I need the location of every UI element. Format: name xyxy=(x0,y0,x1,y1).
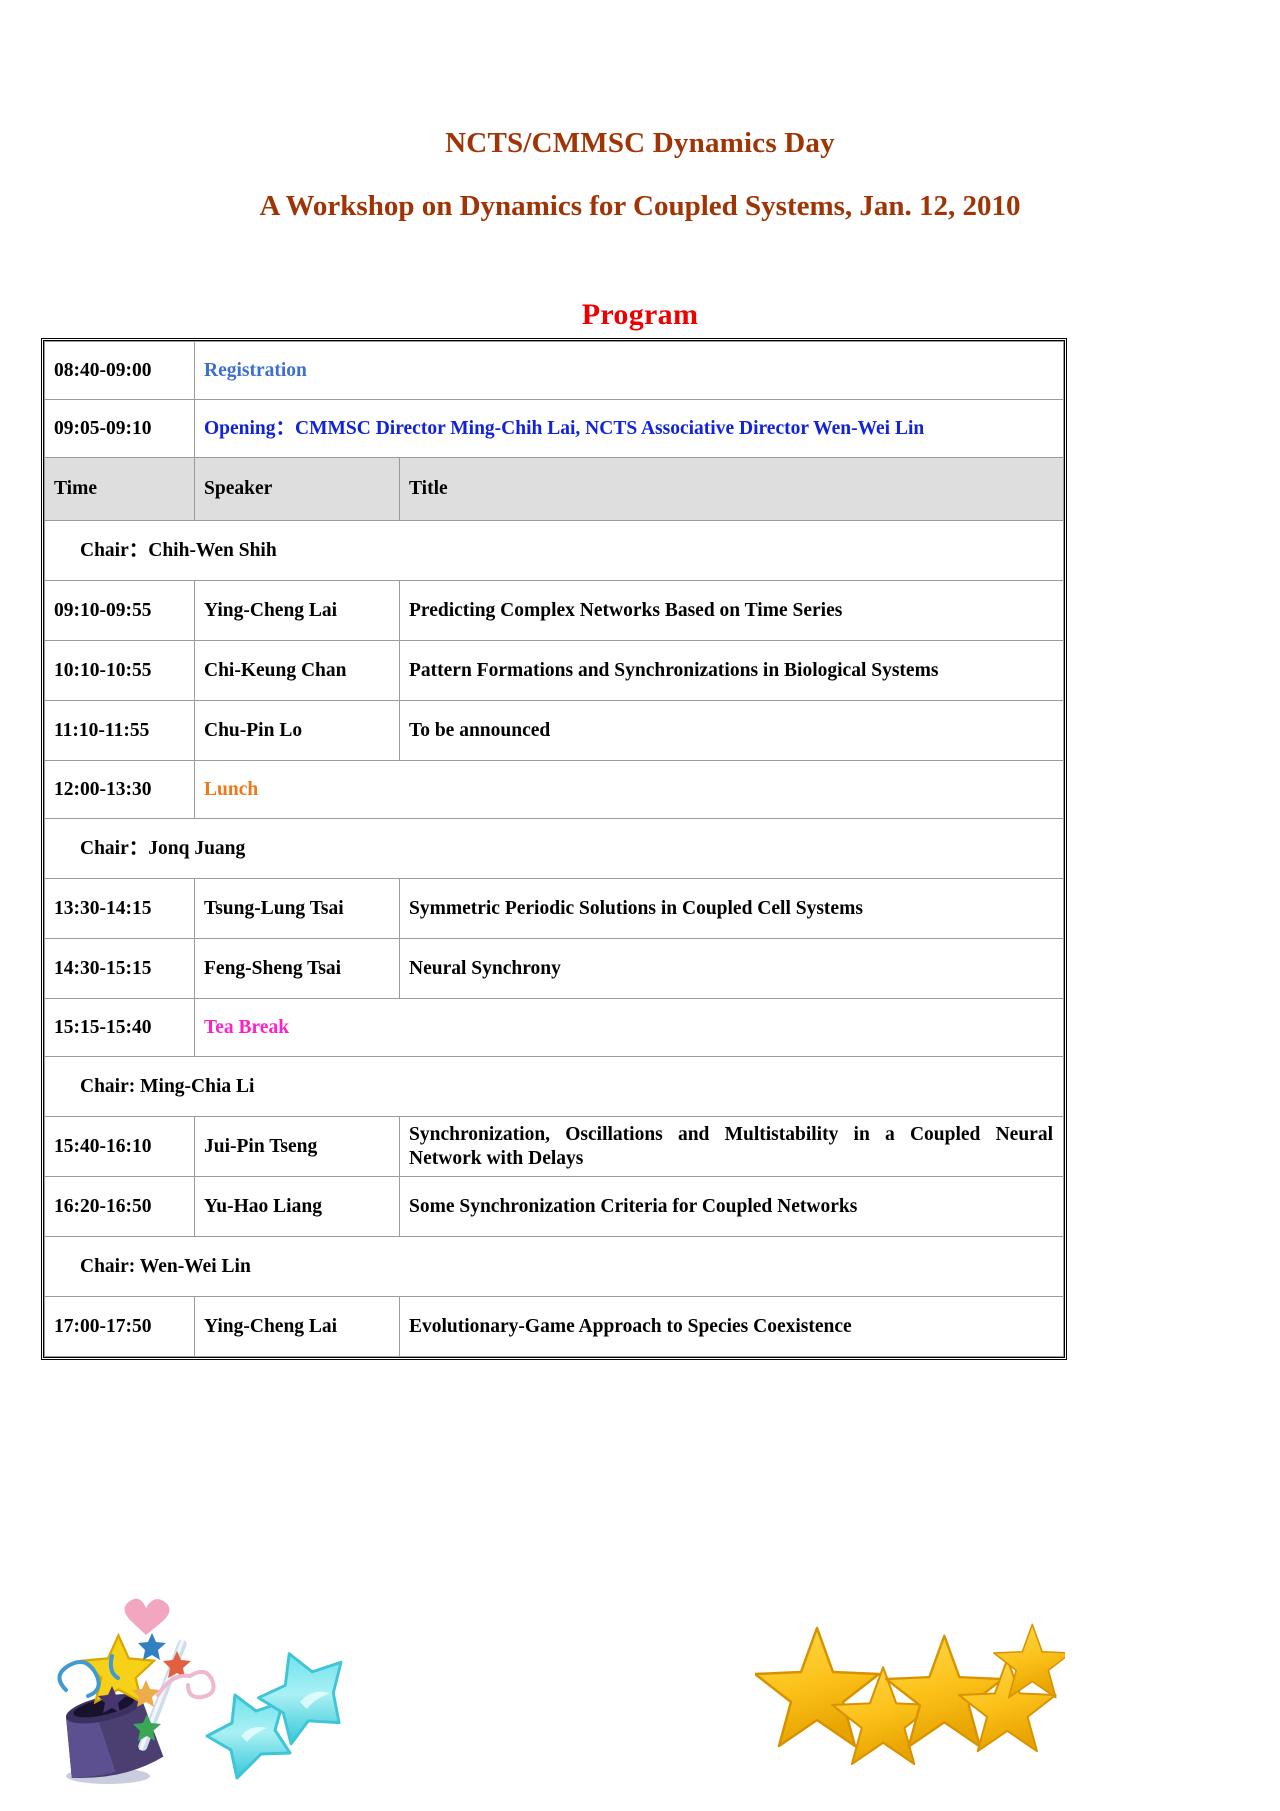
cell-speaker: Yu-Hao Liang xyxy=(195,1177,400,1237)
table-row: 17:00-17:50 Ying-Cheng Lai Evolutionary-… xyxy=(45,1297,1064,1357)
table-row-tea-break: 15:15-15:40 Tea Break xyxy=(45,999,1064,1057)
cell-title: Pattern Formations and Synchronizations … xyxy=(400,641,1064,701)
cell-speaker: Tsung-Lung Tsai xyxy=(195,879,400,939)
cell-time: 09:10-09:55 xyxy=(45,581,195,641)
cell-speaker: Chu-Pin Lo xyxy=(195,701,400,761)
cell-time: 17:00-17:50 xyxy=(45,1297,195,1357)
table-row-registration: 08:40-09:00 Registration xyxy=(45,342,1064,400)
cell-title: Predicting Complex Networks Based on Tim… xyxy=(400,581,1064,641)
cell-title: Neural Synchrony xyxy=(400,939,1064,999)
table-row: 09:10-09:55 Ying-Cheng Lai Predicting Co… xyxy=(45,581,1064,641)
column-header-title: Title xyxy=(400,458,1064,521)
table-row-chair-1: Chair：Chih-Wen Shih xyxy=(45,521,1064,581)
cell-time: 12:00-13:30 xyxy=(45,761,195,819)
table-row: 15:40-16:10 Jui-Pin Tseng Synchronizatio… xyxy=(45,1117,1064,1177)
table-row: 16:20-16:50 Yu-Hao Liang Some Synchroniz… xyxy=(45,1177,1064,1237)
column-header-speaker: Speaker xyxy=(195,458,400,521)
chair-label: Chair：Jonq Juang xyxy=(54,838,245,859)
cell-speaker: Ying-Cheng Lai xyxy=(195,581,400,641)
cell-registration-label: Registration xyxy=(195,342,1064,400)
table-header-row: Time Speaker Title xyxy=(45,458,1064,521)
cell-speaker: Ying-Cheng Lai xyxy=(195,1297,400,1357)
cell-title: Synchronization, Oscillations and Multis… xyxy=(409,1123,1063,1171)
cyan-stars-icon xyxy=(205,1650,355,1790)
cell-time: 09:05-09:10 xyxy=(45,400,195,458)
table-row-opening: 09:05-09:10 Opening：CMMSC Director Ming-… xyxy=(45,400,1064,458)
cell-title: Evolutionary-Game Approach to Species Co… xyxy=(400,1297,1064,1357)
cell-opening-label: Opening：CMMSC Director Ming-Chih Lai, NC… xyxy=(195,400,1064,458)
program-table: 08:40-09:00 Registration 09:05-09:10 Ope… xyxy=(44,341,1064,1357)
program-table-container: 08:40-09:00 Registration 09:05-09:10 Ope… xyxy=(41,338,1067,1360)
cell-time: 15:15-15:40 xyxy=(45,999,195,1057)
table-row: 10:10-10:55 Chi-Keung Chan Pattern Forma… xyxy=(45,641,1064,701)
cell-title: To be announced xyxy=(400,701,1064,761)
column-header-time: Time xyxy=(45,458,195,521)
page-title: NCTS/CMMSC Dynamics Day xyxy=(0,128,1280,158)
chair-label: Chair: Wen-Wei Lin xyxy=(54,1256,251,1277)
title-block: NCTS/CMMSC Dynamics Day A Workshop on Dy… xyxy=(0,0,1280,222)
cell-speaker: Chi-Keung Chan xyxy=(195,641,400,701)
cell-tea-break-label: Tea Break xyxy=(195,999,1064,1057)
cell-time: 16:20-16:50 xyxy=(45,1177,195,1237)
cell-title: Some Synchronization Criteria for Couple… xyxy=(400,1177,1064,1237)
cell-time: 15:40-16:10 xyxy=(45,1117,195,1177)
cell-speaker: Jui-Pin Tseng xyxy=(195,1117,400,1177)
program-heading: Program xyxy=(0,298,1280,332)
cell-time: 11:10-11:55 xyxy=(45,701,195,761)
table-row-chair-4: Chair: Wen-Wei Lin xyxy=(45,1237,1064,1297)
chair-label: Chair：Chih-Wen Shih xyxy=(54,540,277,561)
cell-time: 14:30-15:15 xyxy=(45,939,195,999)
gold-stars-icon xyxy=(755,1618,1065,1803)
chair-label: Chair: Ming-Chia Li xyxy=(54,1076,254,1097)
cell-title: Symmetric Periodic Solutions in Coupled … xyxy=(400,879,1064,939)
table-row: 13:30-14:15 Tsung-Lung Tsai Symmetric Pe… xyxy=(45,879,1064,939)
table-row-chair-2: Chair：Jonq Juang xyxy=(45,819,1064,879)
table-row: 11:10-11:55 Chu-Pin Lo To be announced xyxy=(45,701,1064,761)
table-row: 14:30-15:15 Feng-Sheng Tsai Neural Synch… xyxy=(45,939,1064,999)
cell-time: 08:40-09:00 xyxy=(45,342,195,400)
cell-speaker: Feng-Sheng Tsai xyxy=(195,939,400,999)
cell-lunch-label: Lunch xyxy=(195,761,1064,819)
cell-time: 10:10-10:55 xyxy=(45,641,195,701)
table-row-chair-3: Chair: Ming-Chia Li xyxy=(45,1057,1064,1117)
table-row-lunch: 12:00-13:30 Lunch xyxy=(45,761,1064,819)
page-subtitle: A Workshop on Dynamics for Coupled Syste… xyxy=(0,191,1280,221)
cell-time: 13:30-14:15 xyxy=(45,879,195,939)
